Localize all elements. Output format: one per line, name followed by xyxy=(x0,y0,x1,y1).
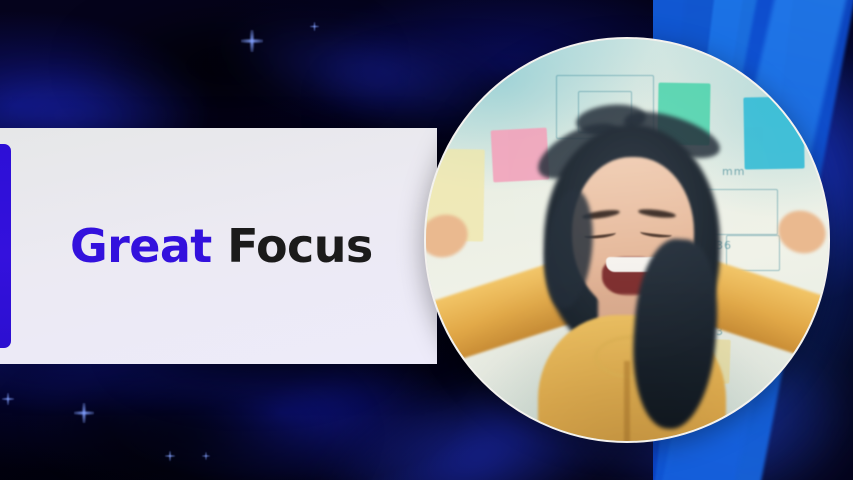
card-accent-bar xyxy=(0,144,11,348)
headline-accent-word: Great xyxy=(70,219,212,273)
headline-card: Great Focus xyxy=(0,128,437,364)
whiteboard-sketch xyxy=(726,235,780,271)
page-title: Great Focus xyxy=(0,221,373,272)
sticky-note xyxy=(743,96,804,169)
slide-canvas: Great Focus mm 336 bud 3 xyxy=(0,0,853,480)
subject-placket xyxy=(624,361,630,441)
sticky-note xyxy=(466,47,510,69)
circular-portrait: mm 336 bud 3 xyxy=(424,37,830,443)
whiteboard-scribble: mm xyxy=(722,165,745,178)
portrait-image: mm 336 bud 3 xyxy=(426,39,828,441)
headline-plain-word: Focus xyxy=(227,219,373,273)
